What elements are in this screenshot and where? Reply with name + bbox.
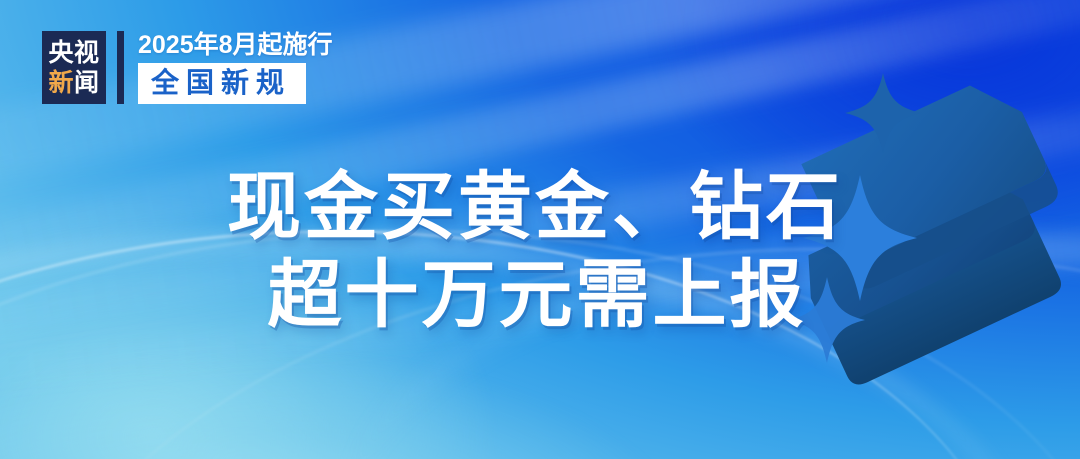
header-divider	[117, 31, 124, 104]
logo-char-wen: 闻	[74, 69, 100, 97]
news-poster: 央视 新闻 2025年8月起施行 全国新规 现金买黄金、钻石 超十万元需上报	[0, 0, 1080, 459]
banner-badge: 全国新规	[138, 63, 306, 104]
logo-line-yangshi: 央视	[48, 38, 99, 68]
background-bottom-cyan-wash	[0, 220, 929, 459]
logo-char-xin: 新	[48, 69, 74, 97]
logo-line-xinwen: 新闻	[48, 68, 99, 98]
header-text-group: 2025年8月起施行 全国新规	[138, 31, 333, 104]
cctv-news-logo[interactable]: 央视 新闻	[42, 31, 106, 104]
kicker-text: 2025年8月起施行	[138, 31, 333, 60]
banner-label: 全国新规	[151, 66, 293, 99]
header: 央视 新闻 2025年8月起施行 全国新规	[42, 31, 333, 104]
